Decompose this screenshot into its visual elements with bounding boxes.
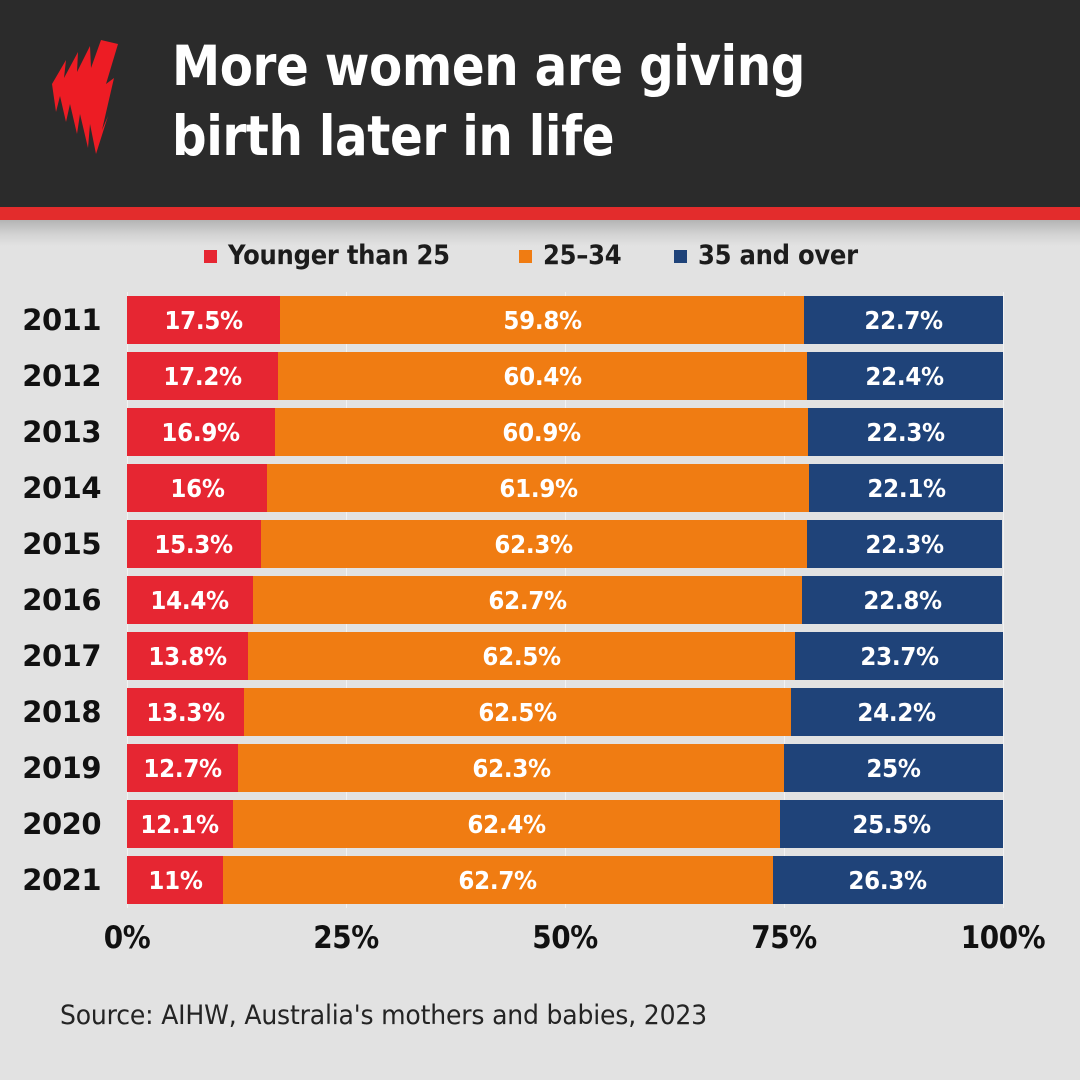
bar-segment-value: 16.9% (162, 418, 240, 447)
bar-segment-value: 24.2% (858, 698, 936, 727)
bar-segment[interactable]: 22.4% (807, 352, 1003, 400)
bar-segment-value: 60.4% (503, 362, 581, 391)
bar-segment-value: 59.8% (503, 306, 581, 335)
bar-segment[interactable]: 60.9% (275, 408, 808, 456)
bar-segment[interactable]: 15.3% (127, 520, 261, 568)
bar-segment[interactable]: 62.4% (233, 800, 780, 848)
x-axis-tick-label: 25% (313, 920, 378, 956)
bar-segment-value: 62.7% (489, 586, 567, 615)
y-axis-label: 2014 (0, 464, 101, 512)
bar-segment-value: 22.3% (866, 418, 944, 447)
source-note: Source: AIHW, Australia's mothers and ba… (60, 1000, 707, 1031)
bar-segment[interactable]: 17.5% (127, 296, 280, 344)
header-band: More women are giving birth later in lif… (0, 0, 1080, 207)
bar-segment-value: 15.3% (155, 530, 233, 559)
bar-row[interactable]: 14.4%62.7%22.8% (127, 576, 1003, 624)
legend-label: 25–34 (543, 240, 621, 271)
x-axis-tick-label: 100% (961, 920, 1045, 956)
header-accent-rule (0, 207, 1080, 220)
bar-segment[interactable]: 22.3% (807, 520, 1002, 568)
bar-segment[interactable]: 61.9% (267, 464, 809, 512)
y-axis-label: 2018 (0, 688, 101, 736)
bar-segment-value: 22.7% (864, 306, 942, 335)
bar-segment-value: 23.7% (860, 642, 938, 671)
legend-label: 35 and over (698, 240, 858, 271)
bar-segment-value: 62.5% (482, 642, 560, 671)
bar-segment-value: 13.3% (146, 698, 224, 727)
chart-area: 2011201220132014201520162017201820192020… (0, 292, 1080, 916)
bar-row[interactable]: 16%61.9%22.1% (127, 464, 1003, 512)
bar-segment[interactable]: 16% (127, 464, 267, 512)
bar-row[interactable]: 17.2%60.4%22.4% (127, 352, 1003, 400)
bar-segment-value: 25.5% (852, 810, 930, 839)
y-axis-label: 2019 (0, 744, 101, 792)
bar-segment-value: 60.9% (502, 418, 580, 447)
bar-segment[interactable]: 62.3% (238, 744, 784, 792)
bar-row[interactable]: 15.3%62.3%22.3% (127, 520, 1003, 568)
legend-item-25-34[interactable]: 25–34 (519, 240, 630, 271)
bar-segment-value: 22.8% (863, 586, 941, 615)
bar-segment-value: 62.3% (495, 530, 573, 559)
bar-segment[interactable]: 22.3% (808, 408, 1003, 456)
bar-segment[interactable]: 13.8% (127, 632, 248, 680)
bar-segment[interactable]: 60.4% (278, 352, 807, 400)
bar-segment-value: 26.3% (849, 866, 927, 895)
bar-segment[interactable]: 12.7% (127, 744, 238, 792)
bar-segment[interactable]: 13.3% (127, 688, 244, 736)
bar-segment[interactable]: 59.8% (280, 296, 804, 344)
bar-segment-value: 61.9% (499, 474, 577, 503)
legend-swatch-icon (674, 250, 687, 263)
bar-row[interactable]: 13.3%62.5%24.2% (127, 688, 1003, 736)
gridline (1003, 292, 1004, 908)
bar-segment[interactable]: 22.8% (802, 576, 1002, 624)
bar-segment-value: 62.7% (459, 866, 537, 895)
bar-segment-value: 13.8% (148, 642, 226, 671)
bar-segment-value: 17.2% (163, 362, 241, 391)
bar-row[interactable]: 13.8%62.5%23.7% (127, 632, 1003, 680)
bar-segment-value: 11% (148, 866, 202, 895)
x-axis-tick-label: 75% (751, 920, 816, 956)
x-axis-tick-label: 50% (532, 920, 597, 956)
bar-segment[interactable]: 62.3% (261, 520, 807, 568)
bar-segment[interactable]: 14.4% (127, 576, 253, 624)
plot-frame: 17.5%59.8%22.7%17.2%60.4%22.4%16.9%60.9%… (127, 292, 1003, 908)
legend-item-35-and-over[interactable]: 35 and over (674, 240, 876, 271)
bar-segment-value: 22.3% (865, 530, 943, 559)
y-axis-label: 2012 (0, 352, 101, 400)
bar-segment[interactable]: 62.7% (223, 856, 772, 904)
bar-row[interactable]: 17.5%59.8%22.7% (127, 296, 1003, 344)
bar-segment-value: 14.4% (151, 586, 229, 615)
bar-segment[interactable]: 17.2% (127, 352, 278, 400)
bar-row[interactable]: 12.7%62.3%25% (127, 744, 1003, 792)
legend-swatch-icon (519, 250, 532, 263)
bar-segment-value: 62.3% (472, 754, 550, 783)
bar-segment-value: 22.1% (867, 474, 945, 503)
bar-segment-value: 12.7% (143, 754, 221, 783)
legend-swatch-icon (204, 250, 217, 263)
page-title: More women are giving birth later in lif… (172, 31, 929, 171)
bar-segment-value: 25% (866, 754, 920, 783)
chart-legend: Younger than 25 25–34 35 and over (0, 240, 1080, 271)
bar-segment-value: 12.1% (141, 810, 219, 839)
bar-row[interactable]: 11%62.7%26.3% (127, 856, 1003, 904)
y-axis-label: 2011 (0, 296, 101, 344)
bar-segment[interactable]: 62.5% (248, 632, 796, 680)
bar-segment[interactable]: 25% (784, 744, 1003, 792)
sbs-logo-icon (44, 38, 134, 156)
stacked-bars: 17.5%59.8%22.7%17.2%60.4%22.4%16.9%60.9%… (127, 292, 1003, 908)
bar-segment[interactable]: 62.7% (253, 576, 802, 624)
bar-segment[interactable]: 26.3% (773, 856, 1003, 904)
bar-segment[interactable]: 22.1% (809, 464, 1003, 512)
y-axis-label: 2021 (0, 856, 101, 904)
bar-segment-value: 17.5% (164, 306, 242, 335)
legend-label: Younger than 25 (228, 240, 450, 271)
y-axis-label: 2016 (0, 576, 101, 624)
y-axis-label: 2017 (0, 632, 101, 680)
bar-segment[interactable]: 24.2% (791, 688, 1003, 736)
bar-segment-value: 62.5% (478, 698, 556, 727)
y-axis-label: 2020 (0, 800, 101, 848)
bar-row[interactable]: 12.1%62.4%25.5% (127, 800, 1003, 848)
bar-segment-value: 62.4% (467, 810, 545, 839)
bar-segment[interactable]: 62.5% (244, 688, 792, 736)
y-axis-label: 2013 (0, 408, 101, 456)
x-axis: 0%25%50%75%100% (127, 920, 1003, 962)
bar-segment[interactable]: 16.9% (127, 408, 275, 456)
bar-segment-value: 16% (170, 474, 224, 503)
bar-segment[interactable]: 25.5% (780, 800, 1003, 848)
x-axis-tick-label: 0% (104, 920, 150, 956)
bar-segment[interactable]: 12.1% (127, 800, 233, 848)
bar-segment[interactable]: 22.7% (804, 296, 1003, 344)
bar-row[interactable]: 16.9%60.9%22.3% (127, 408, 1003, 456)
bar-segment[interactable]: 11% (127, 856, 223, 904)
legend-item-younger-than-25[interactable]: Younger than 25 (204, 240, 474, 271)
bar-segment[interactable]: 23.7% (795, 632, 1003, 680)
y-axis-label: 2015 (0, 520, 101, 568)
bar-segment-value: 22.4% (866, 362, 944, 391)
